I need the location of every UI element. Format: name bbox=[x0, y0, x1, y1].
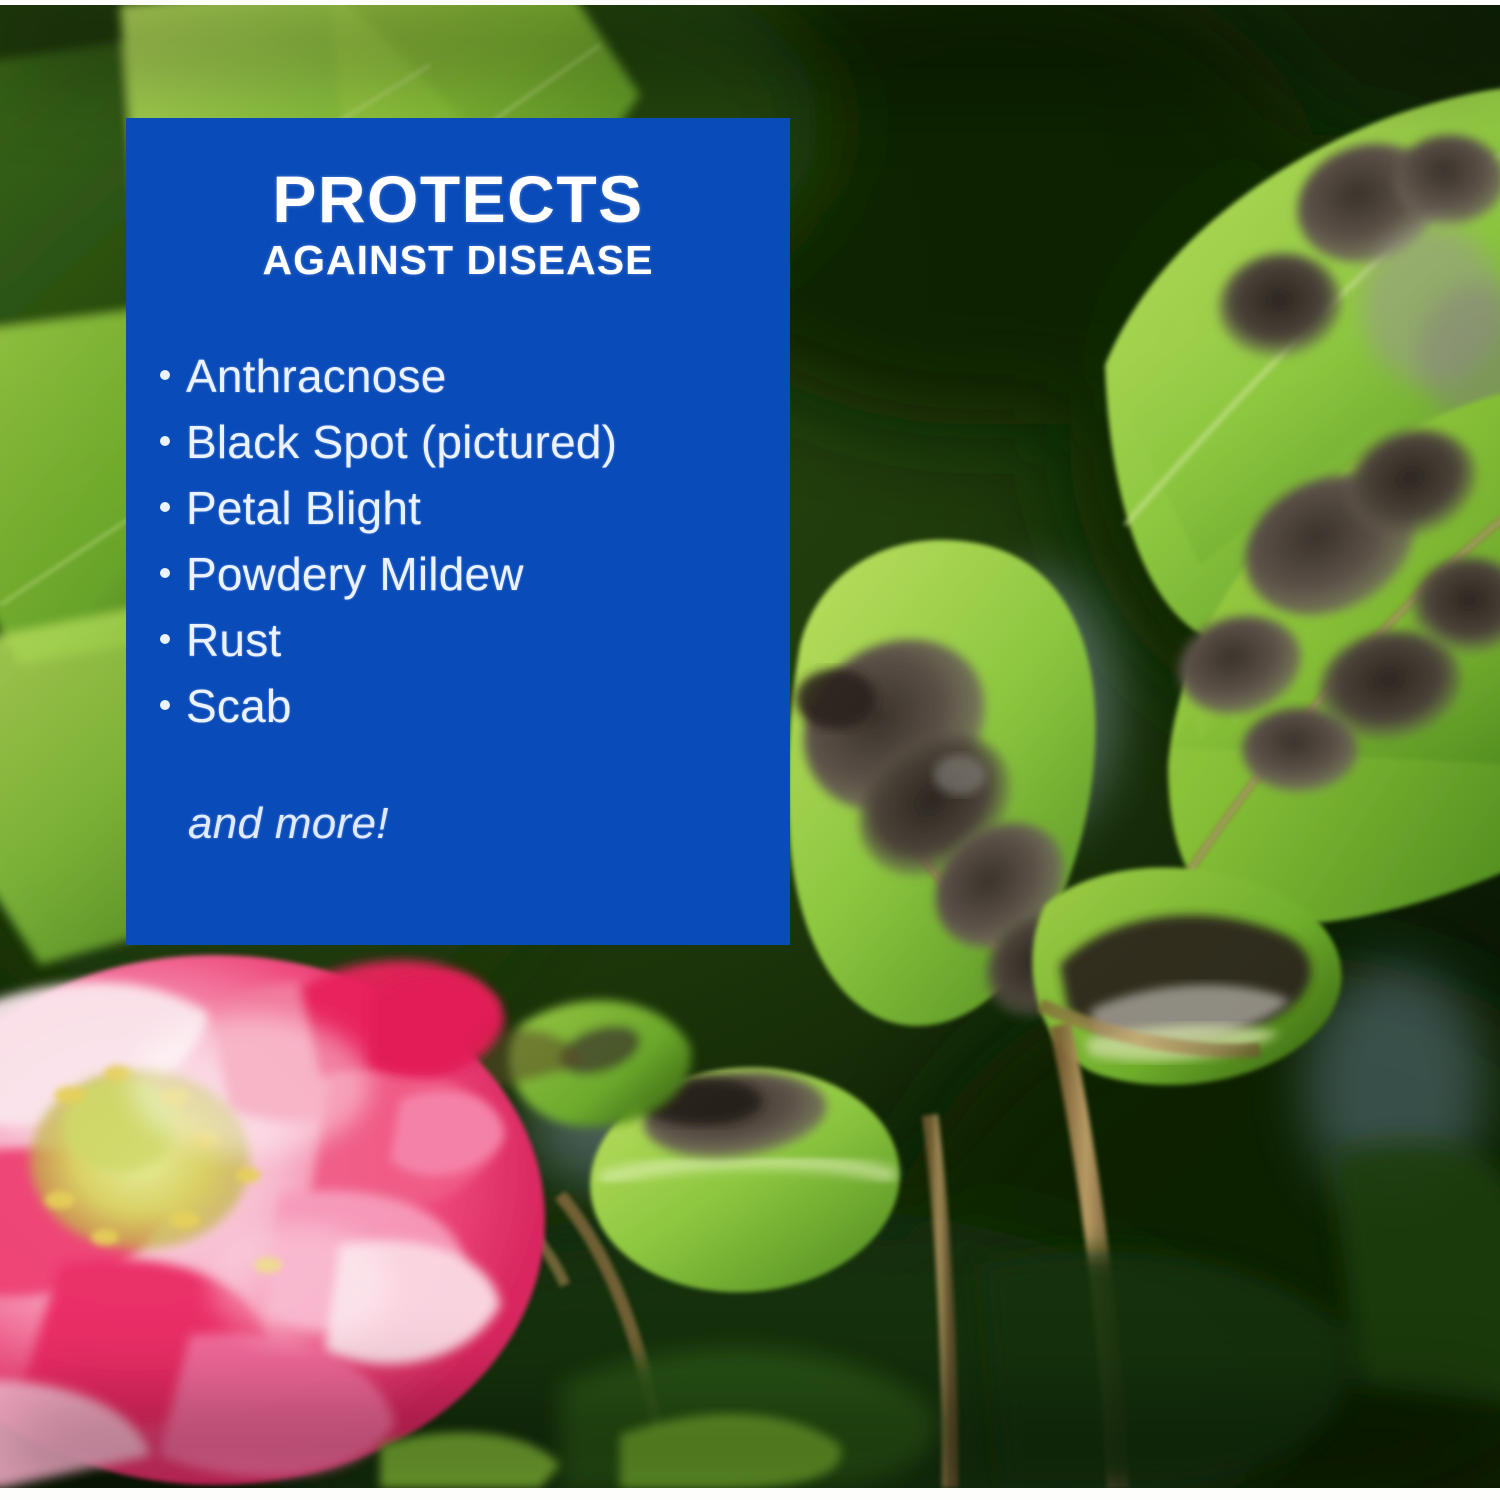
bottom-letterbox-strip bbox=[0, 1488, 1500, 1500]
list-item-label: Powdery Mildew bbox=[186, 541, 524, 607]
list-item-label: Rust bbox=[186, 607, 281, 673]
bullet-icon bbox=[160, 568, 170, 578]
list-item: Black Spot (pictured) bbox=[160, 409, 790, 475]
list-item-label: Scab bbox=[186, 673, 292, 739]
list-item: Powdery Mildew bbox=[160, 541, 790, 607]
protects-against-disease-panel: PROTECTS AGAINST DISEASE Anthracnose Bla… bbox=[126, 118, 790, 945]
bullet-icon bbox=[160, 502, 170, 512]
disease-list: Anthracnose Black Spot (pictured) Petal … bbox=[126, 281, 790, 739]
list-item: Rust bbox=[160, 607, 790, 673]
top-letterbox-strip bbox=[0, 0, 1500, 5]
and-more-note: and more! bbox=[126, 739, 790, 849]
list-item: Anthracnose bbox=[160, 343, 790, 409]
list-item-label: Anthracnose bbox=[186, 343, 446, 409]
page-title: PROTECTS bbox=[126, 166, 790, 232]
list-item: Scab bbox=[160, 673, 790, 739]
bullet-icon bbox=[160, 436, 170, 446]
panel-title-block: PROTECTS AGAINST DISEASE bbox=[126, 118, 790, 281]
bullet-icon bbox=[160, 700, 170, 710]
list-item-label: Black Spot (pictured) bbox=[186, 409, 617, 475]
bullet-icon bbox=[160, 634, 170, 644]
list-item: Petal Blight bbox=[160, 475, 790, 541]
bullet-icon bbox=[160, 370, 170, 380]
list-item-label: Petal Blight bbox=[186, 475, 421, 541]
page-subtitle: AGAINST DISEASE bbox=[126, 240, 790, 281]
poster-canvas: PROTECTS AGAINST DISEASE Anthracnose Bla… bbox=[0, 0, 1500, 1500]
